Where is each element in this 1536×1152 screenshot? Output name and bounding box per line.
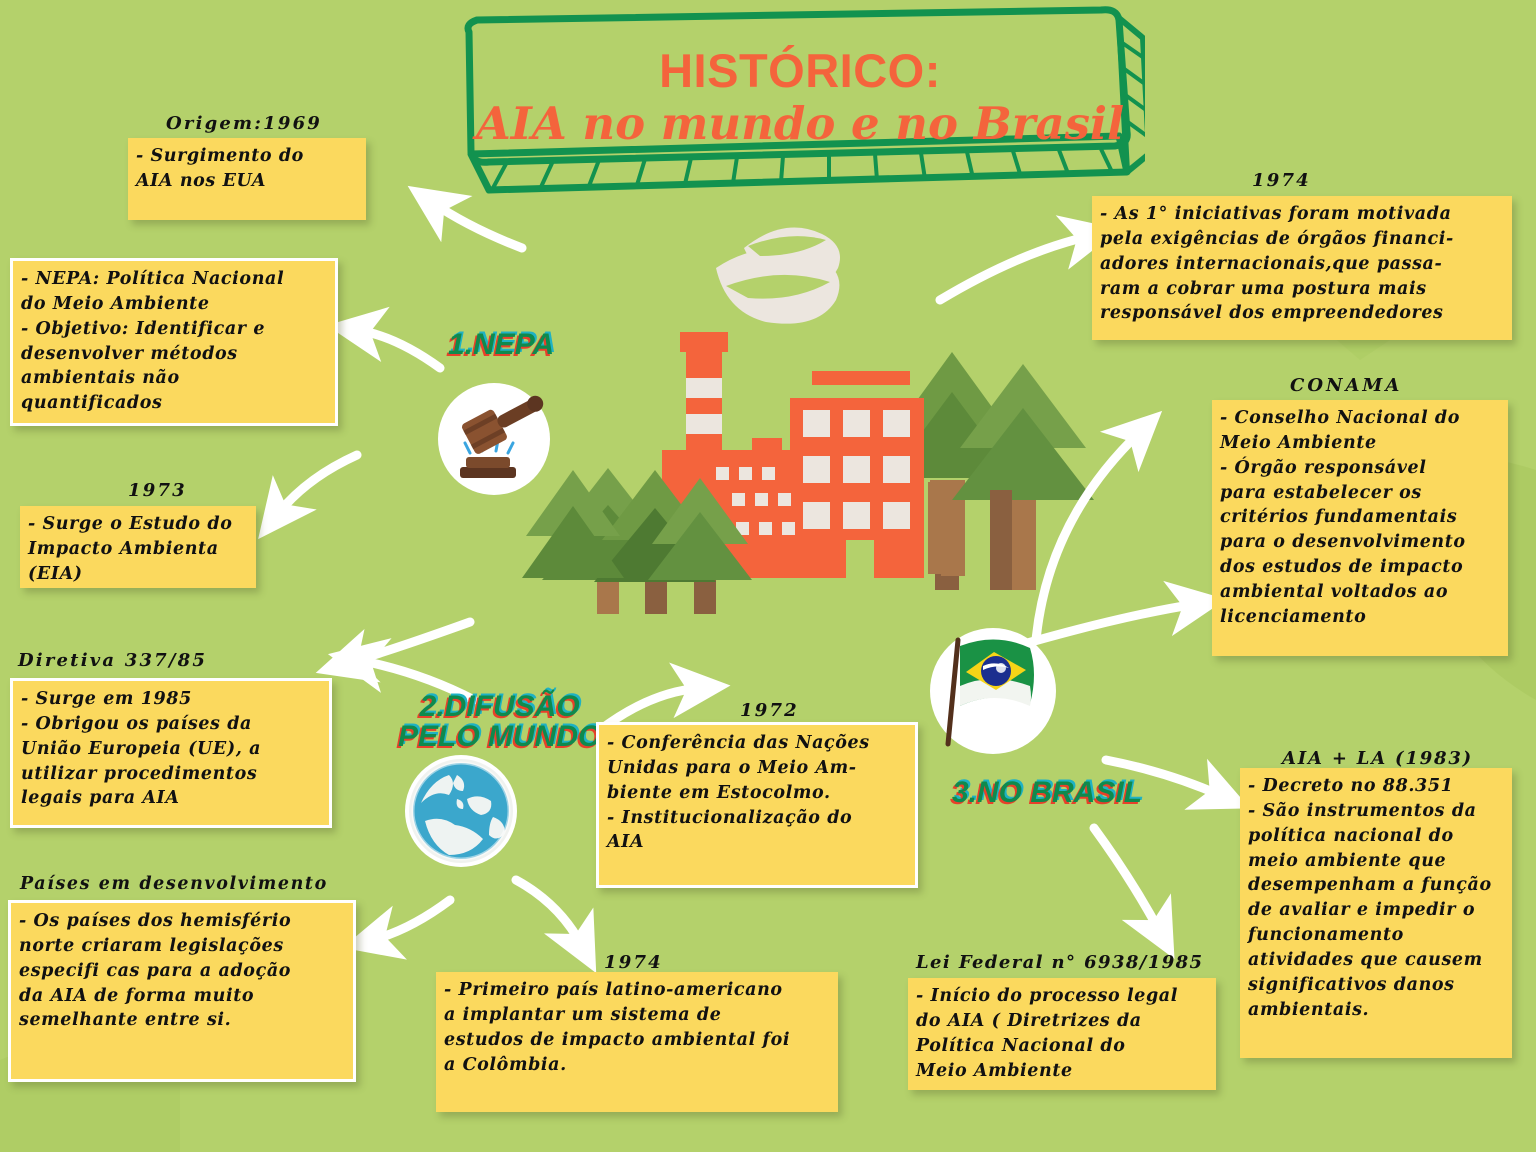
card-lei-federal-6938: - Início do processo legal do AIA ( Dire…: [908, 978, 1216, 1090]
step-label-nepa[interactable]: 1.NEPA: [448, 330, 554, 360]
page-title-line2: AIA no mundo e no Brasil: [476, 100, 1124, 148]
arrow-nepa-to-definicao: [357, 330, 440, 368]
arrow-to-1974-top: [940, 236, 1090, 300]
card-conama: - Conselho Nacional do Meio Ambiente - Ó…: [1212, 400, 1508, 656]
card-heading-colombia-1974: 1974: [604, 952, 663, 973]
card-iniciativas-1974: - As 1° iniciativas foram motivada pela …: [1092, 196, 1512, 340]
title-banner: HISTÓRICO: AIA no mundo e no Brasil: [455, 4, 1145, 204]
globe-icon: [405, 755, 517, 867]
card-heading-aia-la: AIA + LA (1983): [1282, 748, 1473, 769]
gavel-badge: [438, 383, 550, 495]
smoke-icon: [716, 228, 840, 324]
card-paises-em-desenvolvimento: - Os países dos hemisfério norte criaram…: [8, 900, 356, 1082]
card-colombia-1974: - Primeiro país latino-americano a impla…: [436, 972, 838, 1112]
card-nepa-definicao: - NEPA: Política Nacional do Meio Ambien…: [10, 258, 338, 426]
tree-group-left: [522, 468, 752, 614]
step-label-difusao[interactable]: 2.DIFUSÃO PELO MUNDO: [398, 692, 601, 752]
arrow-brasil-to-lei: [1094, 828, 1160, 932]
arrow-title-to-origem: [433, 203, 522, 248]
chimney-icon: [680, 332, 728, 522]
brazil-flag-badge: [930, 628, 1056, 754]
card-heading-1972: 1972: [740, 700, 799, 721]
card-origem-1969: - Surgimento do AIA nos EUA: [128, 138, 366, 220]
card-heading-lei-federal: Lei Federal n° 6938/1985: [916, 952, 1203, 973]
card-estocolmo-1972: - Conferência das Nações Unidas para o M…: [596, 722, 918, 888]
step-label-brasil[interactable]: 3.NO BRASIL: [952, 778, 1142, 808]
card-heading-iniciativas-1974: 1974: [1252, 170, 1311, 191]
tree-group-right: [888, 352, 1094, 590]
card-heading-paises: Países em desenvolvimento: [20, 874, 328, 894]
page-title-line1: HISTÓRICO:: [659, 46, 941, 96]
arrow-brasil-to-conama: [1036, 432, 1140, 640]
title-text-group: HISTÓRICO: AIA no mundo e no Brasil: [455, 4, 1145, 189]
card-diretiva-337-85: - Surge em 1985 - Obrigou os países da U…: [10, 678, 332, 828]
brazil-flag-icon: [930, 628, 1056, 754]
infographic-canvas: HISTÓRICO: AIA no mundo e no Brasil: [0, 0, 1536, 1152]
card-heading-origem-1969: Origem:1969: [166, 113, 322, 134]
card-aia-la-1983: - Decreto no 88.351 - São instrumentos d…: [1240, 768, 1512, 1058]
card-eia-1973: - Surge o Estudo do Impacto Ambienta (EI…: [20, 506, 256, 588]
arrow-difusao-to-paises: [372, 900, 450, 940]
arrow-nepa-to-1973: [277, 455, 357, 515]
card-heading-eia-1973: 1973: [128, 480, 187, 501]
globe-badge: [405, 755, 517, 867]
card-heading-diretiva: Diretiva 337/85: [18, 650, 207, 671]
card-heading-conama: CONAMA: [1290, 375, 1402, 396]
factory-building-icon: [662, 371, 924, 578]
gavel-icon: [438, 383, 550, 495]
arrow-to-difusao: [345, 622, 470, 664]
arrow-difusao-to-colombia: [516, 880, 582, 946]
